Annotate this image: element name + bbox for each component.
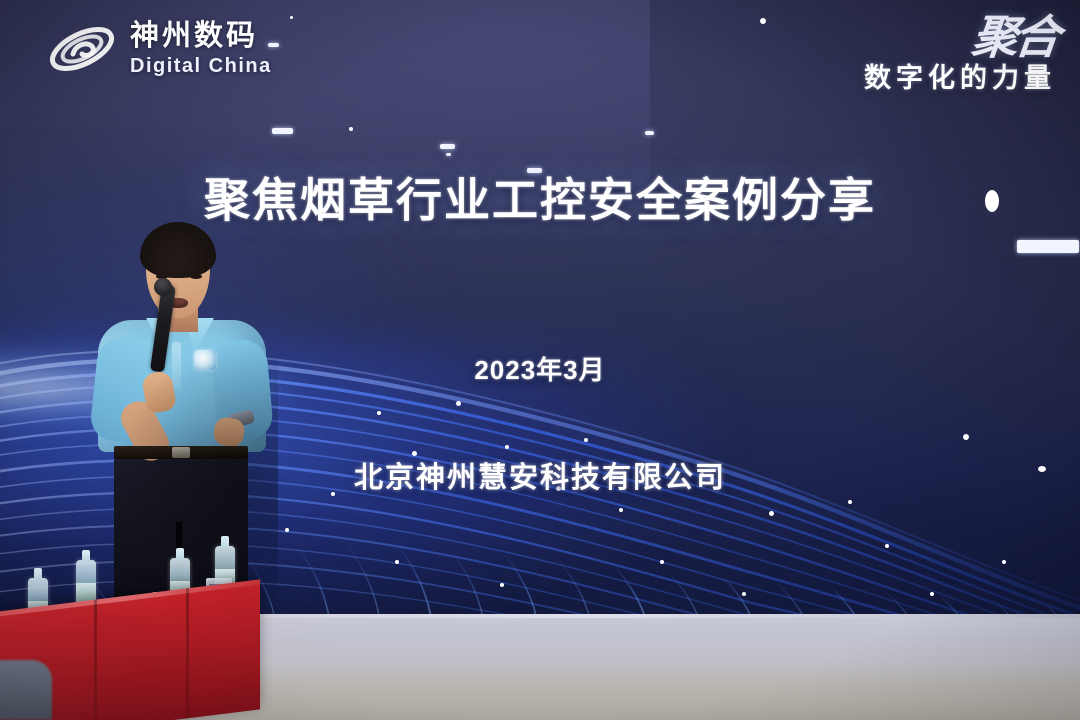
digital-china-swirl-icon xyxy=(46,18,118,80)
brand-wordmark: 神州数码 Digital China xyxy=(130,22,272,76)
brand-name-en: Digital China xyxy=(130,56,272,76)
speaker-belt-buckle xyxy=(172,447,190,458)
digital-china-logo: 神州数码 Digital China xyxy=(46,18,272,80)
attendee-body xyxy=(0,660,52,720)
speaker-hair xyxy=(140,222,216,278)
conference-stage-photo: 神州数码 Digital China 聚合 数字化的力量 聚焦烟草行业工控安全案… xyxy=(0,0,1080,720)
table-skirt-fold-1 xyxy=(94,599,97,720)
event-logo-mark: 聚合 xyxy=(970,16,1058,58)
speaker-shirt-placket xyxy=(172,342,181,390)
event-logo: 聚合 数字化的力量 xyxy=(864,16,1056,95)
table-skirt-fold-2 xyxy=(186,588,189,718)
brand-name-cn: 神州数码 xyxy=(130,22,272,51)
speaker-chest-logo-icon xyxy=(194,350,216,370)
slide-title: 聚焦烟草行业工控安全案例分享 xyxy=(0,176,1080,224)
